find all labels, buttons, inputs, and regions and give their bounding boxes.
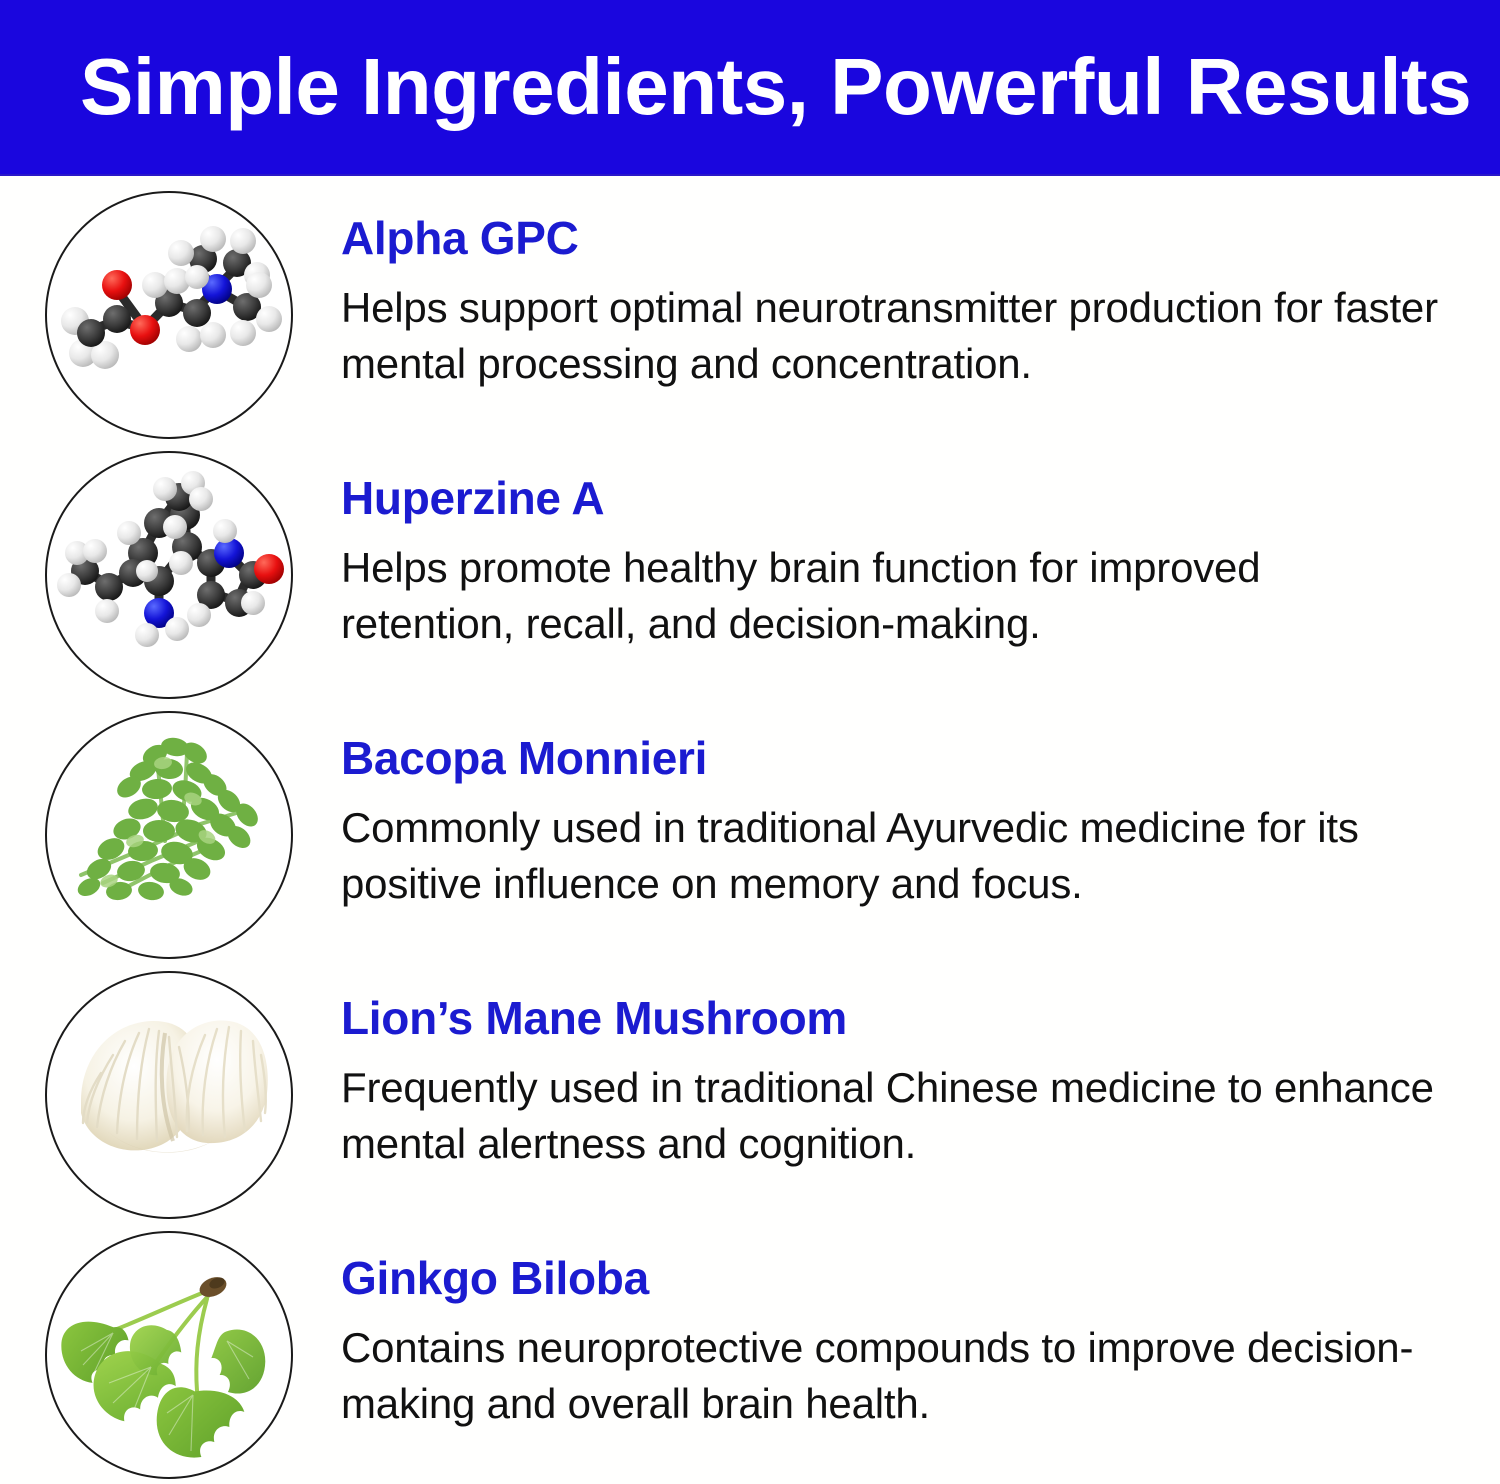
ingredient-text: Lion’s Mane Mushroom Frequently used in …	[341, 962, 1500, 1173]
ingredient-row: Alpha GPC Helps support optimal neurotra…	[0, 182, 1500, 442]
ingredient-row: Bacopa Monnieri Commonly used in traditi…	[0, 702, 1500, 962]
alpha-gpc-molecule-icon	[45, 191, 293, 439]
ingredient-text: Huperzine A Helps promote healthy brain …	[341, 442, 1500, 653]
ingredient-name: Alpha GPC	[341, 214, 1470, 264]
ingredient-description: Helps support optimal neurotransmitter p…	[341, 280, 1441, 393]
ginkgo-leaf-icon	[45, 1231, 293, 1479]
page-title: Simple Ingredients, Powerful Results	[80, 47, 1471, 127]
header-banner: Simple Ingredients, Powerful Results	[0, 0, 1500, 176]
ingredient-list: Alpha GPC Helps support optimal neurotra…	[0, 182, 1500, 1470]
ingredients-infographic: Simple Ingredients, Powerful Results	[0, 0, 1500, 1484]
ingredient-description: Contains neuroprotective compounds to im…	[341, 1320, 1441, 1433]
ingredient-name: Ginkgo Biloba	[341, 1254, 1470, 1304]
bacopa-plant-icon	[45, 711, 293, 959]
ingredient-row: Ginkgo Biloba Contains neuroprotective c…	[0, 1222, 1500, 1470]
ingredient-text: Bacopa Monnieri Commonly used in traditi…	[341, 702, 1500, 913]
ingredient-row: Huperzine A Helps promote healthy brain …	[0, 442, 1500, 702]
ingredient-row: Lion’s Mane Mushroom Frequently used in …	[0, 962, 1500, 1222]
huperzine-a-molecule-icon	[45, 451, 293, 699]
ingredient-description: Frequently used in traditional Chinese m…	[341, 1060, 1441, 1173]
ingredient-name: Bacopa Monnieri	[341, 734, 1470, 784]
ingredient-text: Ginkgo Biloba Contains neuroprotective c…	[341, 1222, 1500, 1433]
ingredient-description: Helps promote healthy brain function for…	[341, 540, 1441, 653]
ingredient-name: Huperzine A	[341, 474, 1470, 524]
ingredient-name: Lion’s Mane Mushroom	[341, 994, 1470, 1044]
ingredient-text: Alpha GPC Helps support optimal neurotra…	[341, 182, 1500, 393]
ingredient-description: Commonly used in traditional Ayurvedic m…	[341, 800, 1441, 913]
lions-mane-mushroom-icon	[45, 971, 293, 1219]
